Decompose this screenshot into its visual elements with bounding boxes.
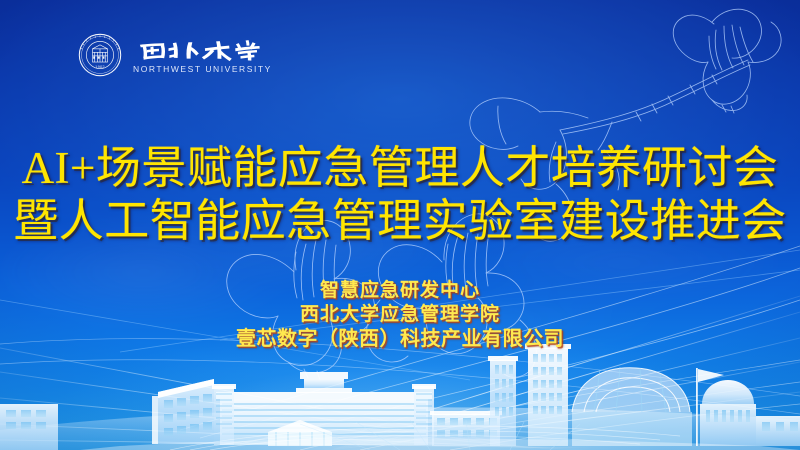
subtitle-line-2: 西北大学应急管理学院: [0, 303, 800, 327]
title-block: AI+场景赋能应急管理人才培养研讨会 暨人工智能应急管理实验室建设推进会: [0, 142, 800, 248]
university-seal-icon: 1902: [78, 33, 122, 77]
title-line-1: AI+场景赋能应急管理人才培养研讨会: [0, 142, 800, 195]
title-line-2: 暨人工智能应急管理实验室建设推进会: [0, 195, 800, 248]
university-logo[interactable]: 1902 西北大学: [78, 33, 272, 77]
subtitle-line-1: 智慧应急研发中心: [0, 279, 800, 303]
logo-name-cn: 西北大学: [131, 37, 272, 63]
logo-text-block: 西北大学: [131, 37, 272, 74]
conference-banner: 1902 西北大学: [0, 0, 800, 450]
subtitle-line-3: 壹芯数字（陕西）科技产业有限公司: [0, 327, 800, 351]
svg-text:1902: 1902: [95, 64, 105, 69]
logo-name-en: NORTHWEST UNIVERSITY: [131, 64, 272, 74]
subtitle-block: 智慧应急研发中心 西北大学应急管理学院 壹芯数字（陕西）科技产业有限公司: [0, 279, 800, 351]
